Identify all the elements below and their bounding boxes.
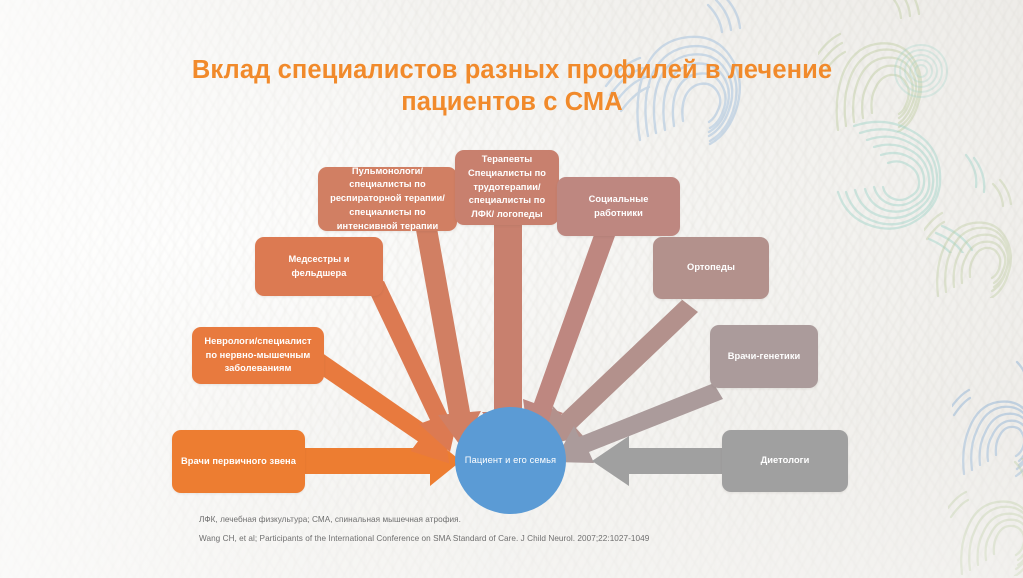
node-neurologists[interactable]: Неврологи/специалист по нервно-мышечным … [192, 327, 324, 384]
node-primary-care[interactable]: Врачи первичного звена [172, 430, 305, 493]
footnote-reference: Wang CH, et al; Participants of the Inte… [199, 534, 649, 543]
node-social-workers-label: Социальные работники [564, 193, 673, 221]
node-dietitians[interactable]: Диетологи [722, 430, 848, 492]
node-therapists-label: Терапевты Специалисты по трудотерапии/ с… [464, 153, 550, 222]
node-social-workers[interactable]: Социальные работники [557, 177, 680, 236]
arrow-pulmonologists [408, 228, 481, 448]
node-dietitians-label: Диетологи [761, 454, 810, 468]
slide-canvas: Пациент и его семья Врачи первичного зве… [0, 0, 1023, 578]
node-primary-care-label: Врачи первичного звена [181, 455, 296, 469]
node-geneticists[interactable]: Врачи-генетики [710, 325, 818, 388]
node-geneticists-label: Врачи-генетики [728, 350, 801, 364]
node-nurses[interactable]: Медсестры и фельдшера [255, 237, 383, 296]
node-therapists[interactable]: Терапевты Специалисты по трудотерапии/ с… [455, 150, 559, 225]
node-orthopedists-label: Ортопеды [687, 261, 735, 275]
node-pulmonologists-label: Пульмонологи/ специалисты по респираторн… [327, 165, 448, 234]
hub-patient-family[interactable]: Пациент и его семья [455, 407, 566, 514]
node-nurses-label: Медсестры и фельдшера [262, 253, 376, 281]
footnote-abbreviations: ЛФК, лечебная физкультура; СМА, спинальн… [199, 515, 461, 524]
node-orthopedists[interactable]: Ортопеды [653, 237, 769, 299]
hub-label: Пациент и его семья [465, 453, 556, 467]
node-pulmonologists[interactable]: Пульмонологи/ специалисты по респираторн… [318, 167, 457, 231]
arrow-dietitians [592, 436, 722, 486]
node-neurologists-label: Неврологи/специалист по нервно-мышечным … [201, 335, 315, 376]
page-title: Вклад специалистов разных профилей в леч… [138, 54, 886, 118]
